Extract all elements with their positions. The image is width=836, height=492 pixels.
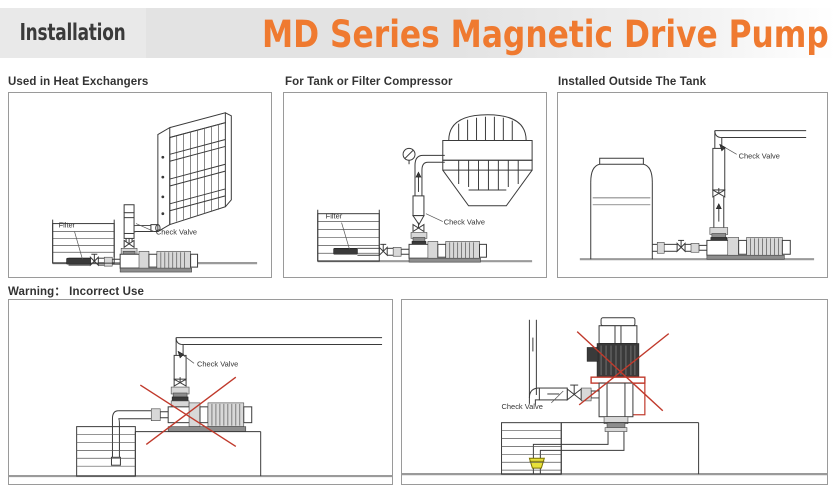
page-header: Installation MD Series Magnetic Drive Pu…	[0, 8, 836, 58]
section-title-warning: Warning： Incorrect Use	[8, 283, 144, 299]
label-check-valve-p1: Check Valve	[156, 227, 197, 236]
installation-badge-label: Installation	[20, 20, 126, 46]
label-filter-p2: Filter	[326, 212, 343, 221]
label-filter-p1: Filter	[59, 221, 76, 230]
installation-badge: Installation	[0, 8, 146, 58]
diagram-panel-incorrect-use-1: Check Valve	[8, 299, 393, 485]
section-title-heat-exchangers: Used in Heat Exchangers	[8, 76, 148, 88]
foot-valve	[529, 458, 544, 468]
label-check-valve-p5: Check Valve	[502, 402, 543, 411]
page-title: MD Series Magnetic Drive Pump	[262, 12, 798, 56]
diagram-panel-tank-compressor: Filter Check Valve	[283, 92, 547, 278]
label-check-valve-p4: Check Valve	[197, 359, 238, 368]
label-check-valve-p2: Check Valve	[444, 218, 485, 227]
label-check-valve-p3: Check Valve	[739, 151, 780, 160]
diagram-panel-incorrect-use-2: Check Valve	[401, 299, 828, 485]
diagram-panel-heat-exchangers: Filter Check Valve	[8, 92, 272, 278]
diagram-panel-outside-tank: Check Valve	[557, 92, 828, 278]
section-title-outside-tank: Installed Outside The Tank	[558, 76, 706, 88]
section-title-tank-compressor: For Tank or Filter Compressor	[285, 76, 453, 88]
